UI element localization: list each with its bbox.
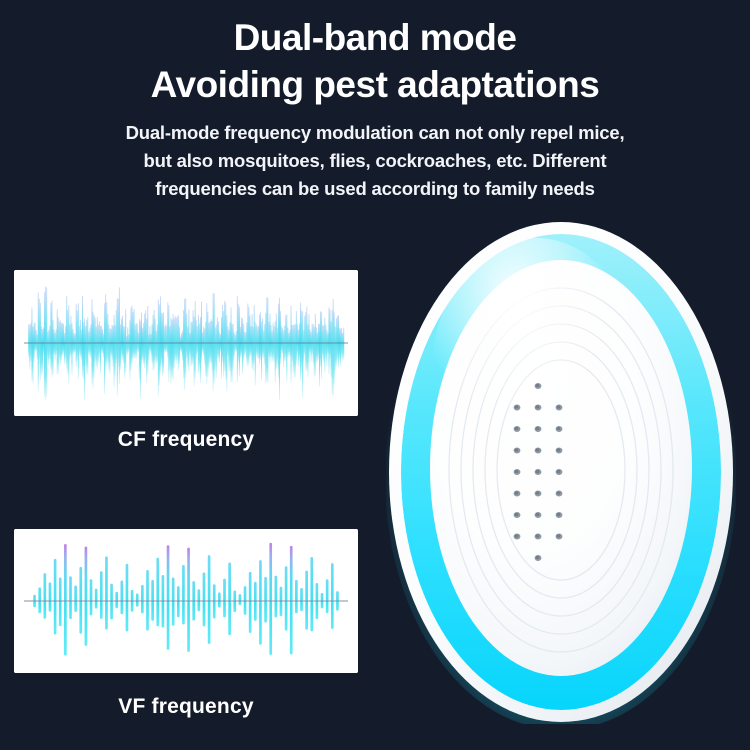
- vf-frequency-caption: VF frequency: [14, 695, 358, 719]
- headline-secondary: Avoiding pest adaptations: [0, 61, 750, 108]
- grille-dot-shadow: [536, 427, 540, 430]
- vf-frequency-waveform-panel: [14, 529, 358, 673]
- grille-dot-shadow: [536, 405, 540, 408]
- description-line-2: but also mosquitoes, flies, cockroaches,…: [46, 147, 704, 175]
- grille-dot-shadow: [536, 470, 540, 473]
- headline-primary: Dual-band mode: [0, 14, 750, 61]
- description-paragraph: Dual-mode frequency modulation can not o…: [0, 119, 750, 203]
- grille-dot-shadow: [515, 448, 519, 451]
- grille-dot-shadow: [536, 384, 540, 387]
- grille-dot-shadow: [557, 491, 561, 494]
- device-illustration: [386, 220, 736, 724]
- grille-dot-shadow: [557, 405, 561, 408]
- grille-dot-shadow: [515, 534, 519, 537]
- product-marketing-banner: Dual-band mode Avoiding pest adaptations…: [0, 0, 750, 750]
- cf-waveform-chart: [14, 270, 358, 416]
- grille-dot-shadow: [515, 491, 519, 494]
- description-line-3: frequencies can be used according to fam…: [46, 175, 704, 203]
- vf-waveform-chart: [14, 529, 358, 673]
- grille-dot-shadow: [557, 448, 561, 451]
- grille-dot-shadow: [557, 427, 561, 430]
- cf-frequency-caption: CF frequency: [14, 428, 358, 452]
- grille-dot-shadow: [515, 427, 519, 430]
- grille-dot-shadow: [536, 448, 540, 451]
- grille-dot-shadow: [536, 534, 540, 537]
- grille-dot-shadow: [515, 405, 519, 408]
- grille-dot-shadow: [515, 513, 519, 516]
- grille-dot-shadow: [536, 513, 540, 516]
- description-line-1: Dual-mode frequency modulation can not o…: [46, 119, 704, 147]
- grille-dot-shadow: [536, 491, 540, 494]
- grille-dot-shadow: [536, 556, 540, 559]
- device-highlight-sheen: [432, 238, 640, 502]
- header-block: Dual-band mode Avoiding pest adaptations…: [0, 0, 750, 203]
- ultrasonic-pest-repeller-device: [386, 220, 736, 724]
- grille-dot-shadow: [515, 470, 519, 473]
- cf-frequency-waveform-panel: [14, 270, 358, 416]
- grille-dot-shadow: [557, 513, 561, 516]
- grille-dot-shadow: [557, 470, 561, 473]
- grille-dot-shadow: [557, 534, 561, 537]
